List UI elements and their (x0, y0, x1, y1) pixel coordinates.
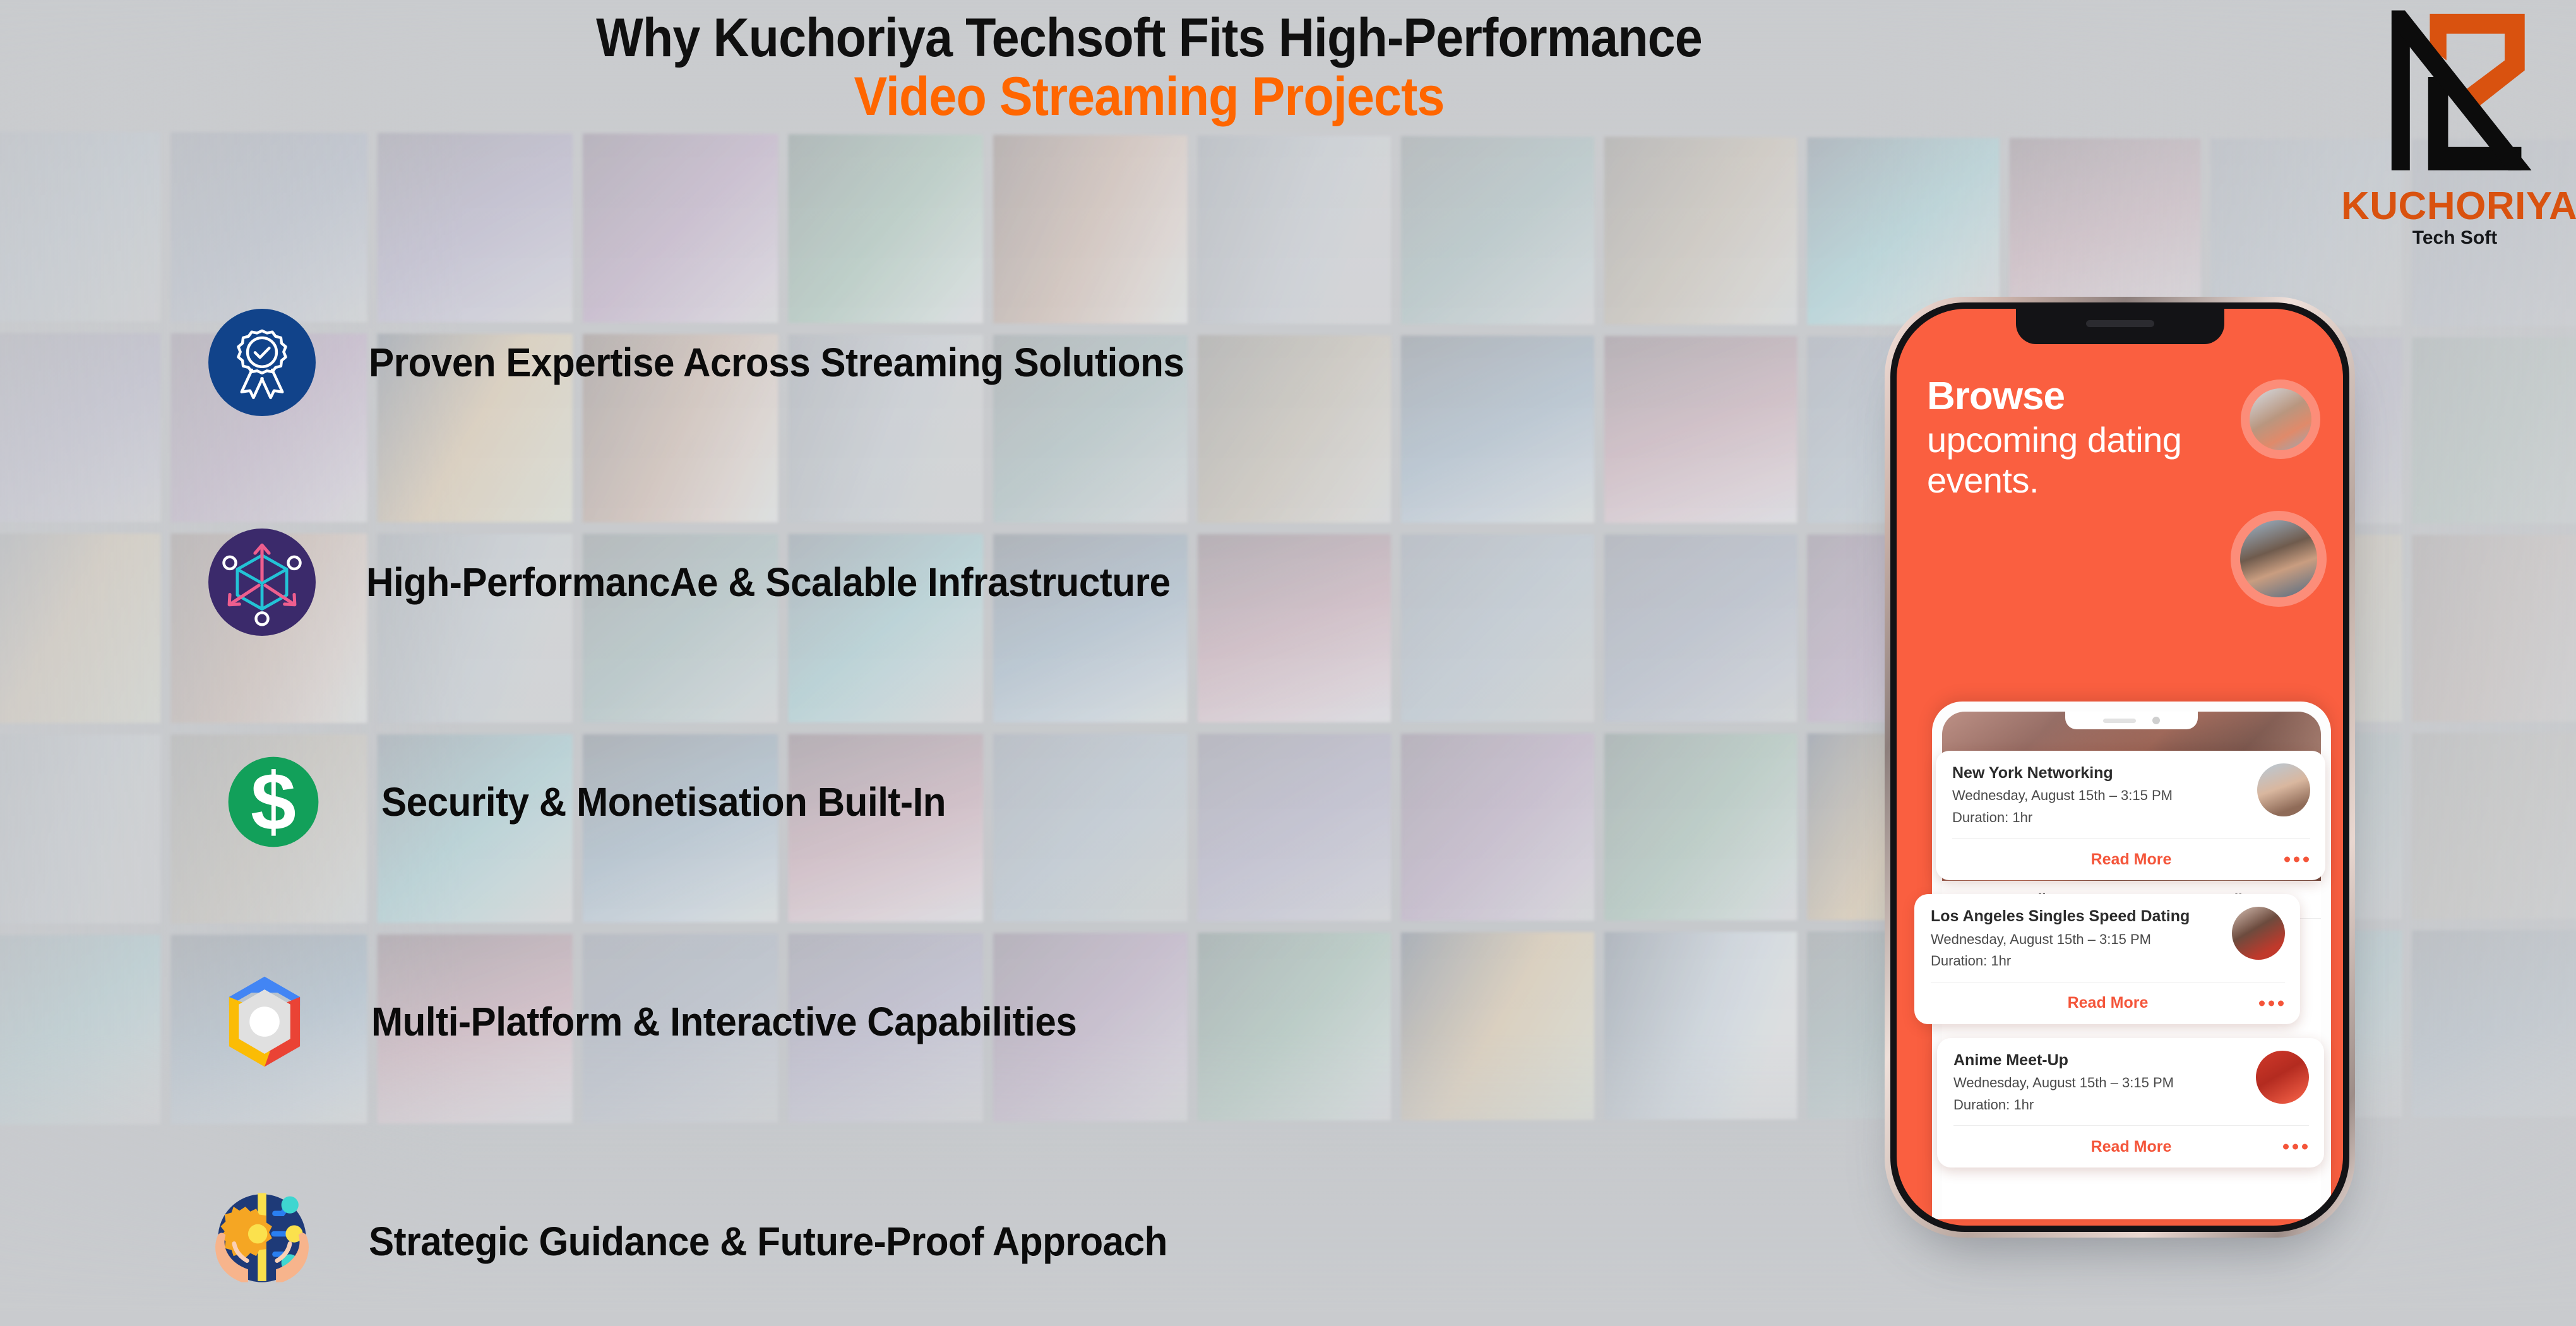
brand-tagline: Tech Soft (2341, 229, 2568, 248)
page-title-line-1: Why Kuchoriya Techsoft Fits High-Perform… (92, 9, 2207, 68)
event-title: New York Networking (1952, 763, 2248, 783)
brand-wordmark: KUCHORIYA (2341, 187, 2568, 226)
event-duration: Duration: 1hr (1952, 809, 2248, 827)
event-thumbnail (2232, 907, 2285, 960)
list-item: Strategic Guidance & Future-Proof Approa… (208, 1132, 1850, 1326)
event-thumbnail (2256, 1051, 2309, 1104)
event-datetime: Wednesday, August 15th – 3:15 PM (1953, 1074, 2247, 1092)
page-title: Why Kuchoriya Techsoft Fits High-Perform… (0, 9, 2298, 126)
phone-body: Browse upcoming dating events. (1890, 302, 2349, 1232)
feature-list: Proven Expertise Across Streaming Soluti… (208, 253, 1850, 1326)
phone-screen: Browse upcoming dating events. (1897, 309, 2343, 1226)
more-options-icon[interactable] (2259, 1000, 2284, 1006)
earpiece-speaker-icon (2086, 320, 2154, 327)
app-hero-subtitle: upcoming dating events. (1927, 420, 2223, 501)
list-item-label: Security & Monetisation Built-In (381, 779, 946, 825)
hands-holding-gear-network-icon (208, 1188, 316, 1295)
phone-notch (2016, 309, 2224, 344)
event-datetime: Wednesday, August 15th – 3:15 PM (1952, 787, 2248, 805)
avatar[interactable] (2241, 379, 2320, 459)
phone-frame: Browse upcoming dating events. (1885, 297, 2355, 1238)
inner-camera-icon (2152, 717, 2160, 724)
google-cloud-hexagon-icon (211, 968, 318, 1075)
list-item-label: Proven Expertise Across Streaming Soluti… (369, 339, 1184, 386)
event-card[interactable]: New York Networking Wednesday, August 15… (1936, 751, 2325, 880)
award-badge-check-icon (208, 309, 316, 416)
event-title: Anime Meet-Up (1953, 1051, 2247, 1070)
dollar-sign-icon: $ (220, 748, 327, 856)
brand-logo[interactable]: KUCHORIYA Tech Soft (2341, 4, 2568, 248)
inner-speaker-icon (2103, 719, 2136, 723)
read-more-button[interactable]: Read More (2068, 994, 2149, 1012)
list-item: $ Security & Monetisation Built-In (208, 692, 1850, 912)
read-more-button[interactable]: Read More (2091, 851, 2172, 869)
list-item-label: High-PerformancAe & Scalable Infrastruct… (366, 559, 1171, 606)
list-item-label: Strategic Guidance & Future-Proof Approa… (369, 1218, 1167, 1265)
kuchoriya-nk-monogram-icon (2351, 4, 2559, 187)
event-card-list: New York Networking Wednesday, August 15… (1914, 751, 2322, 1181)
phone-mockup: Browse upcoming dating events. (1885, 297, 2355, 1238)
page-title-line-2: Video Streaming Projects (92, 68, 2207, 126)
event-datetime: Wednesday, August 15th – 3:15 PM (1931, 931, 2223, 949)
svg-text:$: $ (251, 756, 296, 847)
list-item: High-PerformancAe & Scalable Infrastruct… (208, 472, 1850, 692)
more-options-icon[interactable] (2284, 857, 2309, 863)
scalable-cube-arrows-icon (208, 529, 316, 636)
event-duration: Duration: 1hr (1931, 952, 2223, 971)
event-duration: Duration: 1hr (1953, 1096, 2247, 1114)
app-hero-title: Browse (1927, 377, 2223, 416)
hero-avatars (2223, 377, 2318, 501)
event-thumbnail (2257, 763, 2310, 816)
more-options-icon[interactable] (2283, 1144, 2308, 1150)
list-item: Multi-Platform & Interactive Capabilitie… (208, 912, 1850, 1132)
event-card[interactable]: Anime Meet-Up Wednesday, August 15th – 3… (1937, 1038, 2324, 1168)
avatar[interactable] (2231, 511, 2327, 607)
inner-phone-notch (2065, 712, 2198, 729)
read-more-button[interactable]: Read More (2091, 1138, 2172, 1156)
list-item-label: Multi-Platform & Interactive Capabilitie… (371, 998, 1076, 1045)
event-title: Los Angeles Singles Speed Dating (1931, 907, 2223, 926)
event-card[interactable]: Los Angeles Singles Speed Dating Wednesd… (1914, 894, 2300, 1024)
list-item: Proven Expertise Across Streaming Soluti… (208, 253, 1850, 472)
